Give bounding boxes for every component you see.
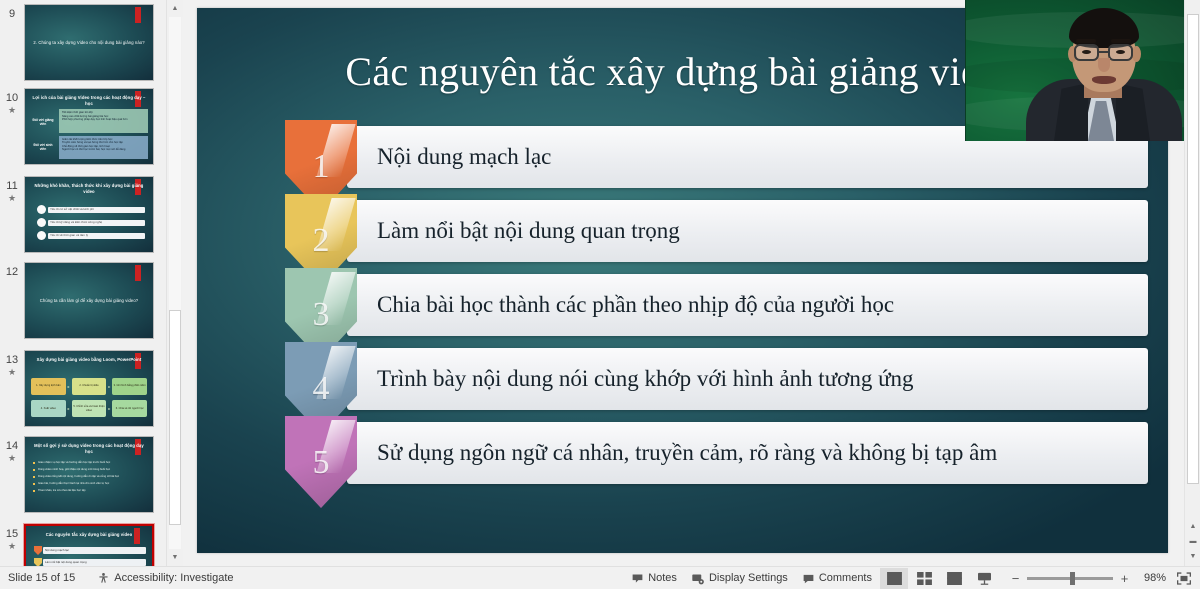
thumbnail-flow-row: 1. Xây dựng kịch bản▸2. Chuẩn bị slide▸3… <box>31 378 147 395</box>
slide-scrollbar[interactable]: ▲ ▬ ▼ <box>1184 0 1200 566</box>
notes-icon <box>631 572 644 585</box>
presenter-nose <box>1098 58 1110 72</box>
presenter-eye-left <box>1082 50 1091 54</box>
thumbnail-chevron-icon <box>34 546 42 555</box>
thumbnail-flow-node: 6. Chia sẻ tới người học <box>112 400 147 417</box>
principle-number: 5 <box>313 444 330 508</box>
thumbnail-labels: Đối với giảng viênĐối với sinh viên <box>30 109 56 159</box>
slide-sorter-view-button[interactable] <box>910 568 938 589</box>
thumbnail-flow: 1. Xây dựng kịch bản▸2. Chuẩn bị slide▸3… <box>31 375 147 420</box>
comments-label: Comments <box>819 572 872 584</box>
thumbnail-label: Đối với giảng viên <box>30 118 56 126</box>
thumbnail-circle-row: Yếu tố cơ sở vật chất và kinh phí <box>37 205 145 214</box>
thumbnail-pill-text: Yếu tố kỹ năng và kiến thức công nghệ <box>50 220 102 224</box>
thumbnail-scrollbar-thumb[interactable] <box>169 310 181 525</box>
thumbnail-chevron-text: Nội dung mạch lạc <box>45 548 69 552</box>
thumbnail-title: Xây dựng bài giảng video bằng Loom, Powe… <box>31 357 147 363</box>
thumbnail-title: Một số gợi ý sử dụng video trong các hoạ… <box>31 443 147 455</box>
accessibility-label: Accessibility: Investigate <box>114 572 233 584</box>
thumbnail-circle-row: Yếu tố về thời gian và tâm lý <box>37 231 145 240</box>
principle-text: Làm nổi bật nội dung quan trọng <box>377 217 680 245</box>
zoom-control[interactable]: − + 98% <box>1009 572 1166 585</box>
thumbnail-preview[interactable]: 2. Chúng ta xây dựng Video cho nội dung … <box>24 4 154 81</box>
thumbnail-chevron-row: Nội dung mạch lạc <box>34 546 146 555</box>
slide-counter[interactable]: Slide 15 of 15 <box>8 572 75 584</box>
thumbnail-pill-text: Yếu tố cơ sở vật chất và kinh phí <box>50 207 94 211</box>
presenter-eyebrow-right <box>1111 39 1131 43</box>
presenter-figure <box>1024 6 1184 141</box>
thumbnail-meta: 12 <box>0 262 24 278</box>
thumbnail-flow-node: 1. Xây dựng kịch bản <box>31 378 66 395</box>
thumbnail-flow-node: 2. Chuẩn bị slide <box>72 378 107 395</box>
thumbnail-preview[interactable]: Lợi ích của bài giảng Video trong các ho… <box>24 88 154 165</box>
thumbnail-panel: Tiết kiệm thời gian lên lớp Nâng cao chấ… <box>59 109 148 133</box>
slide-thumbnail-14[interactable]: 14★Một số gợi ý sử dụng video trong các … <box>0 436 166 513</box>
thumbnail-scrollbar[interactable]: ▲ ▼ <box>166 0 182 566</box>
zoom-in-button[interactable]: + <box>1118 572 1131 585</box>
thumbnail-flow-node: 3. Ghi hình bằng phần mềm <box>112 378 147 395</box>
display-settings-label: Display Settings <box>709 572 788 584</box>
thumbnail-meta: 9 <box>0 4 24 20</box>
notes-button[interactable]: Notes <box>624 568 684 589</box>
thumbnail-meta: 14★ <box>0 436 24 464</box>
thumbnail-preview[interactable]: Xây dựng bài giảng video bằng Loom, Powe… <box>24 350 154 427</box>
thumbnail-panels: Tiết kiệm thời gian lên lớp Nâng cao chấ… <box>59 109 148 159</box>
thumbnail-chevron-text: Làm nổi bật nội dung quan trọng <box>45 560 87 564</box>
fit-to-window-button[interactable] <box>1172 568 1196 589</box>
zoom-level-label[interactable]: 98% <box>1136 572 1166 584</box>
thumbnail-flow-arrow: ▸ <box>68 384 70 389</box>
thumbnail-bullet: Dùng video minh hoạ, giới thiệu nội dung… <box>33 468 147 471</box>
animation-star-icon: ★ <box>0 367 24 378</box>
thumbnail-chevron-icon <box>34 558 42 566</box>
next-slide-icon[interactable]: ▼ <box>1185 549 1200 564</box>
thumbnail-flow-arrow: ▸ <box>108 384 110 389</box>
principle-item[interactable]: 4Trình bày nội dung nói cùng khớp với hì… <box>285 348 1148 410</box>
slide-thumbnail-12[interactable]: 12Chúng ta cần làm gì để xây dựng bài gi… <box>0 262 166 339</box>
thumbnail-meta: 15★ <box>0 524 24 552</box>
slide-show-view-button[interactable] <box>970 568 998 589</box>
thumbnail-panel: Giảm tải khối lượng kiến thức trên lớp h… <box>59 136 148 160</box>
slide-thumbnail-panel[interactable]: 92. Chúng ta xây dựng Video cho nội dung… <box>0 0 166 566</box>
thumbnail-label: Đối với sinh viên <box>30 143 56 151</box>
thumbnail-flow-row: 4. Xuất video▸5. Chỉnh sửa và hoàn thiện… <box>31 400 147 417</box>
thumbnail-title: Các nguyên tắc xây dựng bài giảng video <box>32 532 146 538</box>
display-settings-icon <box>691 572 705 585</box>
presenter-eyebrow-left <box>1076 39 1096 43</box>
thumbnail-pill: Yếu tố kỹ năng và kiến thức công nghệ <box>48 220 145 226</box>
animation-star-icon: ★ <box>0 105 24 116</box>
thumbnail-number: 12 <box>0 266 24 278</box>
previous-slide-icon[interactable]: ▲ <box>1185 519 1200 534</box>
presenter-glasses-bridge <box>1099 51 1108 53</box>
slide-thumbnail-13[interactable]: 13★Xây dựng bài giảng video bằng Loom, P… <box>0 350 166 427</box>
thumbnail-red-marker <box>135 7 141 23</box>
principle-text: Chia bài học thành các phần theo nhịp độ… <box>377 291 894 319</box>
fit-slide-icon[interactable]: ▬ <box>1185 534 1200 549</box>
thumbnail-bullet: Tham khảo, tra cứu theo tài liệu học tập <box>33 489 147 492</box>
thumbnail-chevron-rows: Nội dung mạch lạcLàm nổi bật nội dung qu… <box>34 546 146 566</box>
thumbnail-number: 10 <box>0 92 24 104</box>
thumbnail-circle-icon <box>37 205 46 214</box>
thumbnail-pill: Yếu tố cơ sở vật chất và kinh phí <box>48 207 145 213</box>
thumbnail-number: 9 <box>0 8 24 20</box>
principle-item[interactable]: 5Sử dụng ngôn ngữ cá nhân, truyền cảm, r… <box>285 422 1148 484</box>
principle-text: Trình bày nội dung nói cùng khớp với hìn… <box>377 365 914 393</box>
status-bar: Slide 15 of 15 Accessibility: Investigat… <box>0 566 1200 589</box>
thumbnail-preview[interactable]: Những khó khăn, thách thức khi xây dựng … <box>24 176 154 253</box>
presenter-ear-right <box>1132 46 1141 62</box>
thumbnail-two-column: Đối với giảng viênĐối với sinh viênTiết … <box>30 109 148 159</box>
thumbnail-preview[interactable]: Một số gợi ý sử dụng video trong các hoạ… <box>24 436 154 513</box>
notes-label: Notes <box>648 572 677 584</box>
thumbnail-circle-icon <box>37 218 46 227</box>
thumbnail-pill: Yếu tố về thời gian và tâm lý <box>48 233 145 239</box>
thumbnail-number: 14 <box>0 440 24 452</box>
slide-thumbnail-15[interactable]: 15★Các nguyên tắc xây dựng bài giảng vid… <box>0 524 166 566</box>
presenter-video-overlay[interactable] <box>965 0 1184 141</box>
principle-text-box[interactable]: Trình bày nội dung nói cùng khớp với hìn… <box>347 348 1148 410</box>
thumbnail-red-marker <box>135 265 141 281</box>
thumbnail-bullet: Giao bài, hướng dẫn thực hành tại nhà ch… <box>33 482 147 485</box>
thumbnail-number: 13 <box>0 354 24 366</box>
accessibility-icon <box>97 572 110 585</box>
thumbnail-number: 15 <box>0 528 24 540</box>
animation-star-icon: ★ <box>0 193 24 204</box>
thumbnail-bullets: Giao nhiệm vụ học tập và hướng dẫn học t… <box>33 461 147 492</box>
thumbnail-chevron-row: Làm nổi bật nội dung quan trọng <box>34 558 146 566</box>
principles-list: 1Nội dung mạch lạc2Làm nổi bật nội dung … <box>285 126 1148 484</box>
thumbnail-preview[interactable]: Chúng ta cần làm gì để xây dựng bài giản… <box>24 262 154 339</box>
thumbnail-bullet: Dùng video tổng kết nội dung, hướng dẫn … <box>33 475 147 478</box>
reading-view-button[interactable] <box>940 568 968 589</box>
principle-item[interactable]: 3Chia bài học thành các phần theo nhịp đ… <box>285 274 1148 336</box>
animation-star-icon: ★ <box>0 541 24 552</box>
display-settings-button[interactable]: Display Settings <box>684 568 795 589</box>
thumbnail-flow-node: 5. Chỉnh sửa và hoàn thiện video <box>72 400 107 417</box>
scroll-up-icon[interactable]: ▲ <box>167 0 183 17</box>
thumbnail-meta: 10★ <box>0 88 24 116</box>
presenter-mouth <box>1092 76 1116 84</box>
presenter-eye-right <box>1116 50 1125 54</box>
zoom-out-button[interactable]: − <box>1009 572 1022 585</box>
slide-thumbnail-10[interactable]: 10★Lợi ích của bài giảng Video trong các… <box>0 88 166 165</box>
slide-thumbnail-11[interactable]: 11★Những khó khăn, thách thức khi xây dự… <box>0 176 166 253</box>
slide-scrollbar-thumb[interactable] <box>1187 14 1199 484</box>
thumbnail-chevron-bar: Nội dung mạch lạc <box>43 547 146 554</box>
thumbnail-bullet: Giao nhiệm vụ học tập và hướng dẫn học t… <box>33 461 147 464</box>
animation-star-icon: ★ <box>0 453 24 464</box>
comments-button[interactable]: Comments <box>795 568 879 589</box>
powerpoint-window: 92. Chúng ta xây dựng Video cho nội dung… <box>0 0 1200 589</box>
accessibility-status[interactable]: Accessibility: Investigate <box>97 572 233 585</box>
comments-icon <box>802 572 815 585</box>
thumbnail-circle-icon <box>37 231 46 240</box>
slide-thumbnail-9[interactable]: 92. Chúng ta xây dựng Video cho nội dung… <box>0 4 166 81</box>
thumbnail-title: 2. Chúng ta xây dựng Video cho nội dung … <box>31 40 147 46</box>
thumbnail-circle-row: Yếu tố kỹ năng và kiến thức công nghệ <box>37 218 145 227</box>
zoom-slider-thumb[interactable] <box>1070 572 1075 585</box>
scroll-down-icon[interactable]: ▼ <box>167 549 183 566</box>
thumbnail-circle-rows: Yếu tố cơ sở vật chất và kinh phíYếu tố … <box>37 205 145 240</box>
thumbnail-flow-arrow: ▸ <box>108 406 110 411</box>
principle-text: Nội dung mạch lạc <box>377 143 551 171</box>
thumbnail-chevron-bar: Làm nổi bật nội dung quan trọng <box>43 559 146 566</box>
principle-text-box[interactable]: Làm nổi bật nội dung quan trọng <box>347 200 1148 262</box>
normal-view-button[interactable] <box>880 568 908 589</box>
thumbnail-pill-text: Yếu tố về thời gian và tâm lý <box>50 233 88 237</box>
zoom-slider-track[interactable] <box>1027 577 1113 580</box>
thumbnail-number: 11 <box>0 180 24 192</box>
thumbnail-meta: 11★ <box>0 176 24 204</box>
principle-text: Sử dụng ngôn ngữ cá nhân, truyền cảm, rõ… <box>377 439 997 467</box>
principle-text-box[interactable]: Chia bài học thành các phần theo nhịp độ… <box>347 274 1148 336</box>
thumbnail-title: Lợi ích của bài giảng Video trong các ho… <box>31 95 147 107</box>
thumbnail-preview[interactable]: Các nguyên tắc xây dựng bài giảng videoN… <box>24 524 154 566</box>
principle-text-box[interactable]: Sử dụng ngôn ngữ cá nhân, truyền cảm, rõ… <box>347 422 1148 484</box>
thumbnail-title: Những khó khăn, thách thức khi xây dựng … <box>31 183 147 195</box>
thumbnail-title: Chúng ta cần làm gì để xây dựng bài giản… <box>31 298 147 304</box>
thumbnail-flow-arrow: ▸ <box>68 406 70 411</box>
principle-item[interactable]: 2Làm nổi bật nội dung quan trọng <box>285 200 1148 262</box>
thumbnail-meta: 13★ <box>0 350 24 378</box>
thumbnail-flow-node: 4. Xuất video <box>31 400 66 417</box>
